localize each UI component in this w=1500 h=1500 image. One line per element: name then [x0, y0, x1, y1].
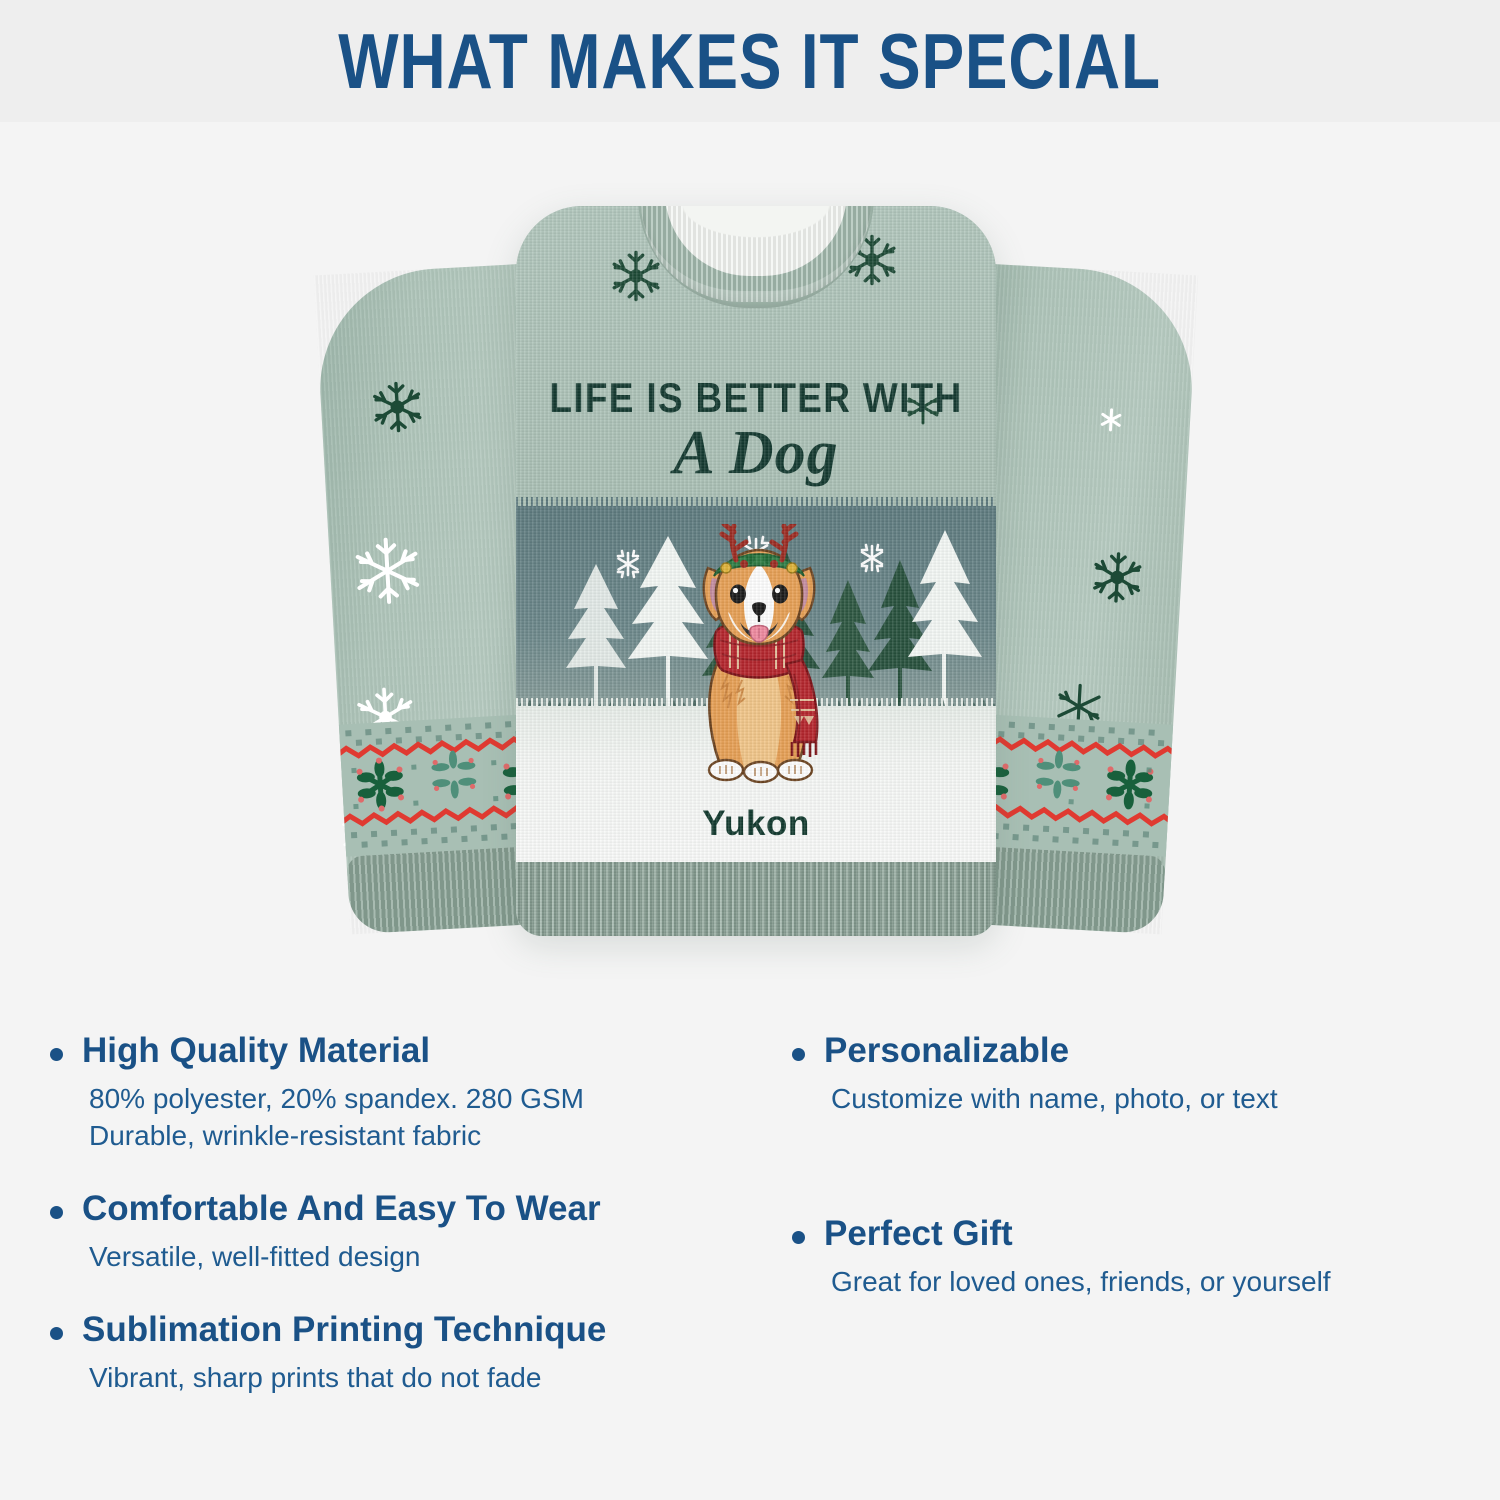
feature-title: Perfect Gift [824, 1213, 1450, 1256]
feature-description: Great for loved ones, friends, or yourse… [824, 1263, 1450, 1300]
corgi-dog-illustration [664, 524, 854, 786]
feature-item: Personalizable Customize with name, phot… [792, 1030, 1450, 1117]
feature-column-right: Personalizable Customize with name, phot… [750, 1008, 1450, 1500]
feature-item: Perfect Gift Great for loved ones, frien… [792, 1213, 1450, 1300]
sweater-print-line-1: LIFE IS BETTER WITH [545, 374, 967, 422]
feature-description: Versatile, well-fitted design [82, 1238, 750, 1275]
bullet-icon [50, 1327, 63, 1340]
feature-item: Comfortable And Easy To Wear Versatile, … [50, 1188, 750, 1275]
feature-title: High Quality Material [82, 1030, 750, 1073]
sweater-pet-name: Yukon [516, 804, 996, 844]
frosted-pine-tree [566, 564, 626, 706]
bullet-icon [50, 1048, 63, 1061]
feature-item: Sublimation Printing Technique Vibrant, … [50, 1309, 750, 1396]
sweater-torso: LIFE IS BETTER WITH A Dog [516, 206, 996, 936]
feature-description: 80% polyester, 20% spandex. 280 GSM Dura… [82, 1080, 750, 1154]
feature-description: Vibrant, sharp prints that do not fade [82, 1359, 750, 1396]
frosted-pine-tree [908, 530, 982, 709]
product-image-stage: LIFE IS BETTER WITH A Dog [0, 122, 1500, 1002]
sweater-hem-band [516, 862, 996, 936]
feature-list: High Quality Material 80% polyester, 20%… [0, 1008, 1500, 1500]
snowflake-icon [1088, 548, 1147, 607]
feature-title: Personalizable [824, 1030, 1450, 1073]
feature-title: Sublimation Printing Technique [82, 1309, 750, 1352]
feature-column-left: High Quality Material 80% polyester, 20%… [50, 1008, 750, 1500]
page-header: WHAT MAKES IT SPECIAL [0, 0, 1500, 122]
sweater-print-line-2: A Dog [516, 418, 996, 489]
snowflake-icon [1085, 393, 1138, 446]
bullet-icon [50, 1206, 63, 1219]
feature-description: Customize with name, photo, or text [824, 1080, 1450, 1117]
sweater-product-photo: LIFE IS BETTER WITH A Dog [330, 180, 1182, 970]
bullet-icon [792, 1231, 805, 1244]
bullet-icon [792, 1048, 805, 1061]
feature-title: Comfortable And Easy To Wear [82, 1188, 750, 1231]
snowflake-icon [368, 378, 427, 437]
feature-item: High Quality Material 80% polyester, 20%… [50, 1030, 750, 1154]
snowflake-icon [348, 532, 426, 610]
page-title: WHAT MAKES IT SPECIAL [339, 22, 1162, 100]
